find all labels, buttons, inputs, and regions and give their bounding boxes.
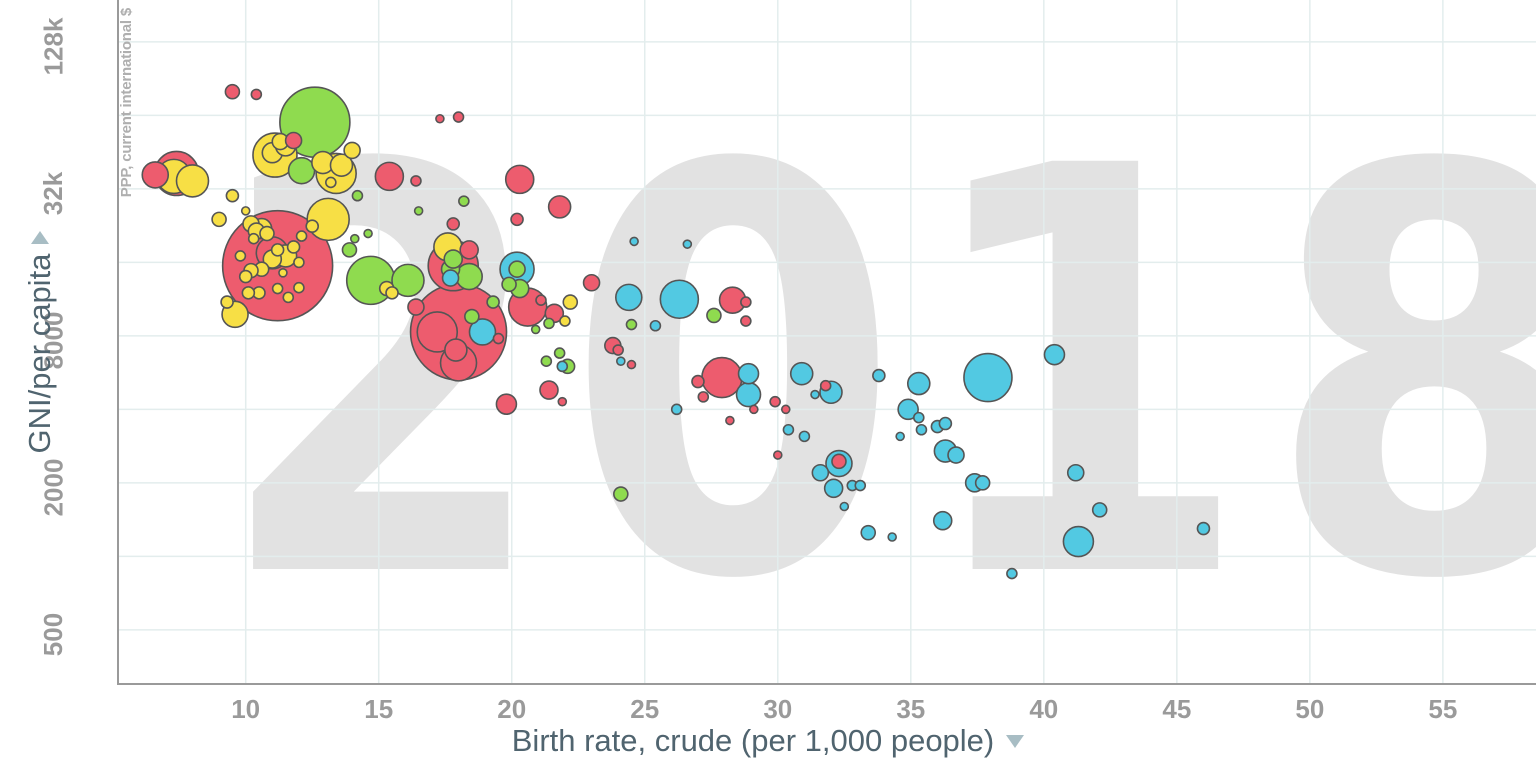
bubble-marker[interactable] [445,339,467,361]
bubble-marker[interactable] [840,503,848,511]
bubble-marker[interactable] [415,207,423,215]
bubble-marker[interactable] [288,241,300,253]
bubble-marker[interactable] [386,287,398,299]
bubble-marker[interactable] [914,413,924,423]
bubble-marker[interactable] [616,284,642,310]
bubble-marker[interactable] [447,218,459,230]
bubble-marker[interactable] [444,250,462,268]
bubble-marker[interactable] [297,231,307,241]
x-tick-label: 15 [349,694,409,725]
bubble-marker[interactable] [650,321,660,331]
bubble-marker[interactable] [344,142,360,158]
bubble-marker[interactable] [617,357,625,365]
bubble-marker[interactable] [702,358,742,398]
bubble-marker[interactable] [286,132,302,148]
bubble-marker[interactable] [454,112,464,122]
bubble-marker[interactable] [825,479,843,497]
y-tick-label: 8000 [0,325,108,347]
bubble-marker[interactable] [487,296,499,308]
x-tick-label: 25 [615,694,675,725]
bubble-marker[interactable] [627,361,635,369]
bubble-marker[interactable] [1063,527,1093,557]
bubble-marker[interactable] [221,296,233,308]
bubble-marker[interactable] [502,277,516,291]
bubble-marker[interactable] [832,454,846,468]
bubble-marker[interactable] [242,207,250,215]
bubble-marker[interactable] [307,198,349,240]
bubble-marker[interactable] [283,292,293,302]
bubble-marker[interactable] [908,373,930,395]
bubble-marker[interactable] [251,89,261,99]
bubble-marker[interactable] [707,308,721,322]
bubble-marker[interactable] [351,235,359,243]
bubble-marker[interactable] [496,394,516,414]
bubble-marker[interactable] [493,334,503,344]
bubble-marker[interactable] [226,190,238,202]
bubble-marker[interactable] [563,295,577,309]
x-tick-label: 30 [748,694,808,725]
bubble-marker[interactable] [511,213,523,225]
bubble-marker[interactable] [737,383,761,407]
bubble-marker[interactable] [976,476,990,490]
bubble-marker[interactable] [235,251,245,261]
bubble-marker[interactable] [672,404,682,414]
bubble-marker[interactable] [260,227,274,241]
x-axis-title-label: Birth rate, crude (per 1,000 people) [512,723,995,759]
y-tick-label: 500 [0,619,108,641]
bubble-marker[interactable] [812,465,828,481]
y-axis-sublabel: PPP, current international $ [118,8,138,308]
bubble-marker[interactable] [726,417,734,425]
bubble-marker[interactable] [326,177,336,187]
bubble-marker[interactable] [509,261,525,277]
bubble-marker[interactable] [630,237,638,245]
bubble-marker[interactable] [212,212,226,226]
bubble-marker[interactable] [916,425,926,435]
bubble-marker[interactable] [873,370,885,382]
bubble-marker[interactable] [142,162,168,188]
y-tick-label: 128k [0,31,108,53]
bubble-marker[interactable] [352,191,362,201]
bubble-marker[interactable] [541,356,551,366]
bubble-marker[interactable] [888,533,896,541]
bubble-marker[interactable] [741,316,751,326]
bubble-marker[interactable] [1068,465,1084,481]
bubble-marker[interactable] [364,230,372,238]
bubble-marker[interactable] [750,405,758,413]
y-tick-label: 32k [0,178,108,200]
bubble-marker[interactable] [540,381,558,399]
bubble-marker[interactable] [584,275,600,291]
bubble-marker[interactable] [560,316,570,326]
bubble-marker[interactable] [614,487,628,501]
bubble-marker[interactable] [791,363,813,385]
x-axis-title[interactable]: Birth rate, crude (per 1,000 people) [0,723,1536,759]
bubble-marker[interactable] [1044,345,1064,365]
bubble-marker[interactable] [811,391,819,399]
bubble-marker[interactable] [555,348,565,358]
bubble-marker[interactable] [683,240,691,248]
plot-area[interactable] [118,0,1536,684]
bubble-marker[interactable] [948,447,964,463]
bubble-marker[interactable] [939,418,951,430]
bubble-marker[interactable] [544,318,554,328]
bubble-marker[interactable] [1093,503,1107,517]
bubble-marker[interactable] [294,283,304,293]
bubble-marker[interactable] [660,280,698,318]
bubble-marker[interactable] [249,234,259,244]
bubble-marker[interactable] [557,361,567,371]
x-tick-label: 55 [1413,694,1473,725]
bubble-marker[interactable] [289,158,315,184]
x-axis-line [117,683,1536,685]
bubble-marker[interactable] [774,451,782,459]
bubble-marker[interactable] [443,270,459,286]
bubble-marker[interactable] [626,320,636,330]
bubble-marker[interactable] [532,325,540,333]
bubble-marker[interactable] [306,220,318,232]
bubble-marker[interactable] [558,398,566,406]
bubble-marker[interactable] [855,481,865,491]
bubble-marker[interactable] [460,241,478,259]
bubble-marker[interactable] [896,432,904,440]
x-tick-label: 20 [482,694,542,725]
x-tick-label: 45 [1147,694,1207,725]
bubble-marker[interactable] [411,176,421,186]
bubble-marker[interactable] [613,345,623,355]
bubble-marker[interactable] [272,244,284,256]
bubble-marker[interactable] [279,269,287,277]
bubble-marker[interactable] [1197,523,1209,535]
bubble-marker[interactable] [436,115,444,123]
bubble-marker[interactable] [799,431,809,441]
bubble-marker[interactable] [176,165,208,197]
bubble-marker[interactable] [964,354,1012,402]
bubble-marker[interactable] [375,162,403,190]
bubble-marker[interactable] [821,381,831,391]
bubble-marker[interactable] [549,196,571,218]
bubble-marker[interactable] [342,243,356,257]
bubble-marker[interactable] [1007,569,1017,579]
bubbles-svg[interactable] [118,0,1536,684]
chevron-down-icon[interactable] [1006,735,1024,748]
bubble-marker[interactable] [783,425,793,435]
x-tick-label: 40 [1014,694,1074,725]
bubble-marker[interactable] [459,196,469,206]
x-tick-label: 35 [881,694,941,725]
chevron-right-icon[interactable] [31,231,49,244]
y-tick-label: 2000 [0,472,108,494]
bubble-marker[interactable] [739,364,759,384]
bubble-marker[interactable] [741,297,751,307]
bubble-marker[interactable] [240,271,252,283]
bubble-marker[interactable] [242,287,254,299]
bubble-marker[interactable] [506,165,534,193]
x-tick-label: 50 [1280,694,1340,725]
bubble-marker[interactable] [770,397,780,407]
bubble-marker[interactable] [408,299,424,315]
bubble-marker[interactable] [465,310,479,324]
bubble-marker[interactable] [294,257,304,267]
bubble-marker[interactable] [225,85,239,99]
bubble-marker[interactable] [861,526,875,540]
bubble-marker[interactable] [692,376,704,388]
bubble-chart-page: 2018 5002000800032k128k PPP, current int… [0,0,1536,769]
bubble-marker[interactable] [273,284,283,294]
bubble-marker[interactable] [934,512,952,530]
bubble-marker[interactable] [536,295,546,305]
bubble-marker[interactable] [782,405,790,413]
bubble-marker[interactable] [698,392,708,402]
x-tick-label: 10 [216,694,276,725]
